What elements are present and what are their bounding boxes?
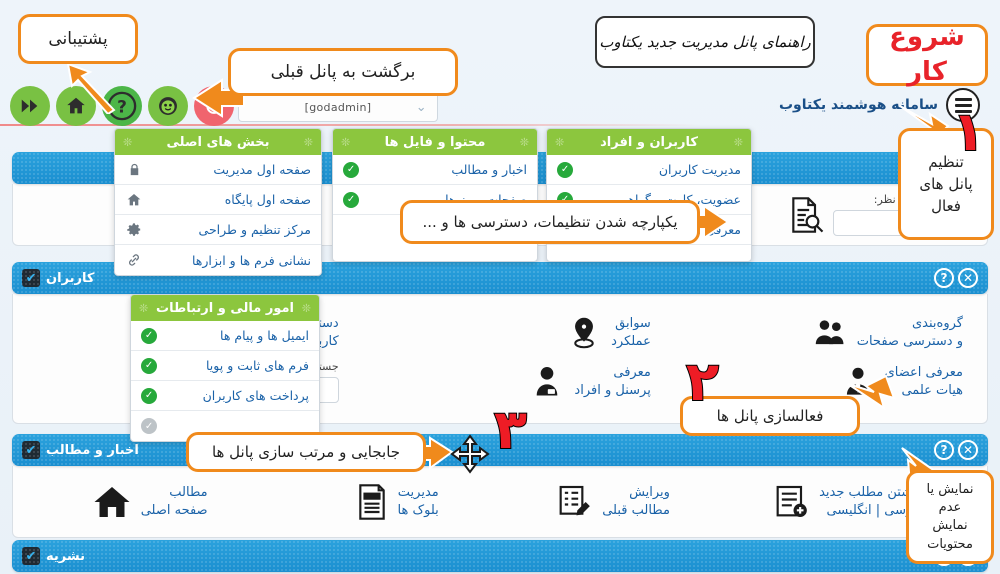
tile-label-line1: معرفی اعضای (885, 365, 963, 380)
close-icon[interactable]: ✕ (958, 268, 978, 288)
callout-back-panel: برگشت به پانل قبلی (228, 48, 458, 96)
tile-label-line1: گروه‌بندی (912, 316, 963, 331)
check-green-icon[interactable]: ✓ (343, 162, 359, 178)
dropdown-item-label: فرم های ثابت و پویا (165, 358, 309, 373)
user-account-select[interactable]: ⌄ [godadmin] (238, 92, 438, 122)
dropdown-item[interactable]: اخبار و مطالب ✓ (333, 155, 537, 185)
section-journal: ✕ ? ✔ نشریه (12, 540, 988, 572)
tile-label-line1: سوابق (615, 316, 651, 331)
dropdown-item[interactable]: مرکز تنظیم و طراحی (115, 215, 321, 245)
marker-number-one: ۱ (952, 100, 985, 163)
dropdown-item-label: صفحه اول مدیریت (151, 162, 311, 177)
check-green-icon[interactable]: ✓ (141, 328, 157, 344)
section-journal-title: نشریه (46, 549, 85, 564)
callout-move-panels: جابجایی و مرتب سازی پانل ها (186, 432, 426, 472)
admin-panel-screenshot: ? ⌄ [godadmin] سامانه هوشمند یکتاوب بخش … (0, 0, 1000, 574)
close-icon[interactable]: ✕ (958, 440, 978, 460)
callout-support: پشتیبانی (18, 14, 138, 64)
chevron-down-icon: ⌄ (416, 100, 427, 115)
tile-label-line2: بلوک ها (398, 502, 439, 520)
dropdown-title: کاربران و افراد (547, 129, 751, 155)
tile-label-line2: پرسنل و افراد (574, 382, 650, 400)
dropdown-item-label: ایمیل ها و پیام ها (165, 328, 309, 343)
dropdown-item[interactable]: نشانی فرم ها و ابزارها (115, 245, 321, 275)
document-search-icon[interactable] (785, 195, 825, 235)
tile-label-line1: مدیریت (398, 485, 439, 500)
section-users-checkbox[interactable]: ✔ (22, 269, 40, 287)
blocks-icon[interactable] (354, 482, 390, 522)
user-account-value: [godadmin] (305, 101, 372, 114)
tile-edit-article[interactable]: ویرایش مطالب قبلی (530, 478, 680, 526)
dropdown-item-label: مرکز تنظیم و طراحی (151, 222, 311, 237)
section-news-body: نوشتن مطلب جدید فارسی | انگلیسی ویرایش م… (12, 466, 988, 538)
home-icon (125, 192, 143, 208)
section-news-checkbox[interactable]: ✔ (22, 441, 40, 459)
tile-label-line2: عملکرد (611, 333, 651, 351)
callout-integrate: یکپارچه شدن تنظیمات، دسترسی ها و ... (400, 200, 700, 244)
tile-activity-log[interactable]: سوابق عملکرد (349, 310, 661, 356)
dropdown-item-label: صفحه اول پایگاه (151, 192, 311, 207)
dropdown-item[interactable]: صفحه اول مدیریت (115, 155, 321, 185)
callout-line-3: فعال (931, 196, 961, 216)
dropdown-item[interactable]: ایمیل ها و پیام ها ✓ (131, 321, 319, 351)
dropdown-title: محتوا و فایل ها (333, 129, 537, 155)
check-green-icon[interactable]: ✓ (343, 192, 359, 208)
callout-line-2: پانل های (919, 174, 972, 194)
tile-manage-blocks[interactable]: مدیریت بلوک ها (299, 478, 449, 526)
dropdown-item[interactable]: فرم های ثابت و پویا ✓ (131, 351, 319, 381)
dropdown-item[interactable]: پرداخت های کاربران ✓ (131, 381, 319, 411)
check-green-icon[interactable]: ✓ (141, 358, 157, 374)
dropdown-finance-communications[interactable]: امور مالی و ارتباطات ایمیل ها و پیام ها … (130, 294, 320, 442)
dropdown-item-label: پرداخت های کاربران (165, 388, 309, 403)
tile-label-line2: مطالب قبلی (602, 502, 670, 520)
callout-line-3: محتویات (927, 536, 973, 554)
section-news-title: اخبار و مطالب (46, 443, 139, 458)
lock-icon (125, 162, 143, 177)
check-green-icon[interactable]: ✓ (141, 388, 157, 404)
tile-label-line2: هیات علمی (885, 382, 963, 400)
tile-homepage-articles[interactable]: مطالب صفحه اصلی (68, 478, 218, 526)
check-gray-icon[interactable]: ✓ (141, 418, 157, 434)
marker-number-two: ۲ (686, 350, 719, 413)
dropdown-title: امور مالی و ارتباطات (131, 295, 319, 321)
dropdown-item-label: نشانی فرم ها و ابزارها (151, 253, 311, 268)
user-badge-icon[interactable] (528, 363, 566, 401)
support-agent-icon[interactable] (148, 86, 188, 126)
callout-start: شروع کار (866, 24, 988, 86)
tile-label-line2: صفحه اصلی (141, 502, 208, 520)
link-icon (125, 252, 143, 268)
dropdown-item-label: مدیریت کاربران (581, 162, 741, 177)
dropdown-item-empty (547, 245, 751, 261)
section-users-title: کاربران (46, 271, 94, 286)
arrow-support (52, 58, 132, 114)
edit-article-icon[interactable] (554, 482, 594, 522)
section-journal-bar[interactable]: ✕ ? ✔ نشریه (12, 540, 988, 572)
marker-number-three: ۳ (494, 398, 527, 461)
new-article-icon[interactable] (771, 482, 811, 522)
dropdown-main-sections[interactable]: بخش های اصلی صفحه اول مدیریت صفحه اول پا… (114, 128, 322, 276)
callout-display-contents: نمایش یا عدم نمایش محتویات (906, 470, 994, 564)
callout-guide-title: راهنمای پانل مدیریت جدید یکتاوب (595, 16, 815, 68)
tile-label-line1: مطالب (169, 485, 207, 500)
fast-forward-icon[interactable] (10, 86, 50, 126)
location-pin-icon[interactable] (565, 314, 603, 352)
tile-grouping-page-access[interactable]: گروه‌بندی و دسترسی صفحات (661, 310, 973, 356)
section-journal-checkbox[interactable]: ✔ (22, 547, 40, 565)
users-group-icon[interactable] (811, 314, 849, 352)
dropdown-title: بخش های اصلی (115, 129, 321, 155)
tile-label-line1: ویرایش (629, 485, 670, 500)
dropdown-item[interactable]: صفحه اول پایگاه (115, 185, 321, 215)
dropdown-item-label: اخبار و مطالب (367, 162, 527, 177)
home-icon[interactable] (91, 482, 133, 522)
tile-label-line2: و دسترسی صفحات (857, 333, 963, 351)
callout-line-2: عدم نمایش (921, 499, 979, 534)
dropdown-item[interactable]: مدیریت کاربران ✓ (547, 155, 751, 185)
gear-icon (125, 222, 143, 238)
help-icon[interactable]: ? (934, 268, 954, 288)
check-green-icon[interactable]: ✓ (557, 162, 573, 178)
move-drag-icon[interactable] (450, 434, 490, 474)
tile-label-line1: معرفی (613, 365, 650, 380)
callout-line-1: نمایش یا (927, 481, 974, 499)
